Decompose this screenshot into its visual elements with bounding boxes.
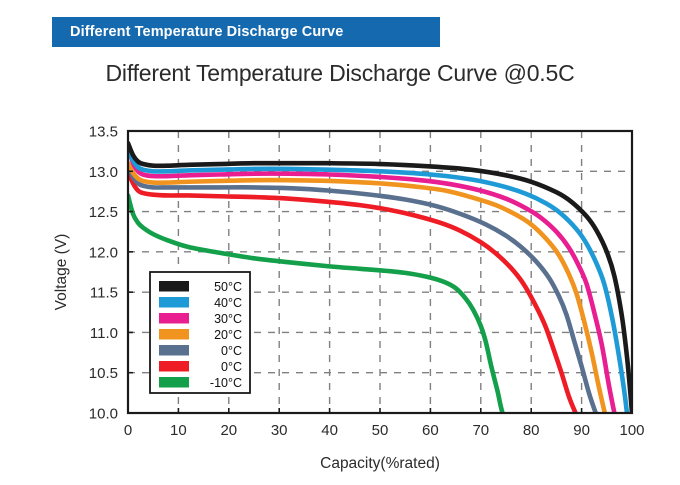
legend-swatch — [159, 361, 189, 372]
x-tick-label: 80 — [523, 422, 540, 439]
legend-swatch — [159, 313, 189, 324]
x-axis-label: Capacity(%rated) — [320, 455, 440, 472]
y-tick-label: 13.0 — [89, 164, 118, 181]
legend-label: 40°C — [214, 296, 242, 310]
x-tick-label: 60 — [422, 422, 439, 439]
legend-label: 0°C — [221, 344, 242, 358]
y-tick-label: 11.0 — [90, 325, 118, 342]
x-tick-label: 10 — [170, 422, 187, 439]
x-tick-label: 70 — [472, 422, 489, 439]
y-tick-label: 13.5 — [89, 124, 118, 141]
y-tick-label: 12.0 — [89, 244, 118, 261]
y-axis-label: Voltage (V) — [53, 234, 70, 311]
y-tick-label: 11.5 — [90, 285, 118, 302]
legend-label: 30°C — [214, 312, 242, 326]
x-tick-label: 100 — [619, 422, 644, 439]
legend-label: -10°C — [210, 376, 242, 390]
x-tick-label: 30 — [271, 422, 288, 439]
x-tick-label: 20 — [220, 422, 237, 439]
x-axis-tick-labels: 0102030405060708090100 — [124, 422, 645, 439]
legend-swatch — [159, 281, 189, 292]
legend-label: 50°C — [214, 280, 242, 294]
y-tick-label: 10.0 — [89, 406, 118, 423]
chart-legend: 50°C40°C30°C20°C0°C0°C-10°C — [150, 272, 250, 393]
x-tick-label: 50 — [372, 422, 389, 439]
legend-label: 0°C — [221, 360, 242, 374]
discharge-curve-chart: 0102030405060708090100 10.010.511.011.51… — [0, 0, 680, 485]
legend-swatch — [159, 297, 189, 308]
chart-svg: 0102030405060708090100 10.010.511.011.51… — [0, 0, 680, 485]
y-axis-tick-labels: 10.010.511.011.512.012.513.013.5 — [89, 124, 118, 423]
x-tick-label: 0 — [124, 422, 132, 439]
legend-label: 20°C — [214, 328, 242, 342]
x-tick-label: 40 — [321, 422, 338, 439]
legend-swatch — [159, 345, 189, 356]
y-tick-label: 12.5 — [89, 204, 118, 221]
y-tick-label: 10.5 — [89, 365, 118, 382]
legend-swatch — [159, 329, 189, 340]
x-tick-label: 90 — [573, 422, 590, 439]
legend-swatch — [159, 377, 189, 388]
chart-page: Different Temperature Discharge Curve Di… — [0, 0, 680, 485]
